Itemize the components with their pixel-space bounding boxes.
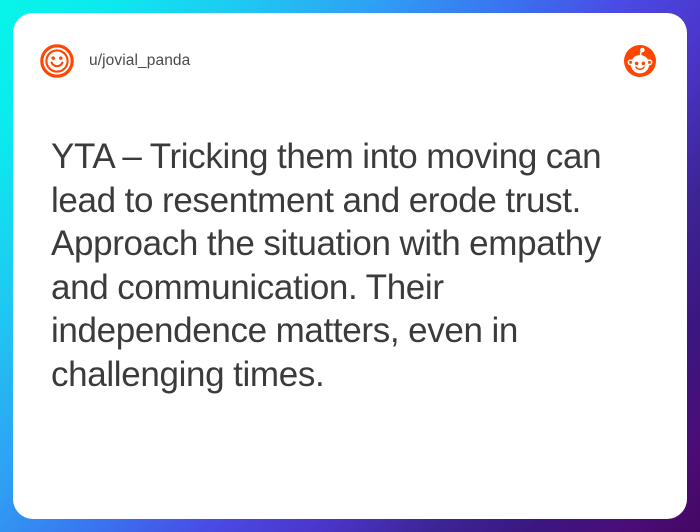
smiley-face-icon [39, 43, 75, 79]
quote-card: u/jovial_panda YTA – Tricking them into … [13, 13, 687, 519]
card-header: u/jovial_panda [39, 39, 661, 83]
quote-text: YTA – Tricking them into moving can lead… [51, 135, 621, 396]
username-label: u/jovial_panda [89, 52, 190, 70]
reddit-snoo-logo [623, 44, 657, 78]
gradient-background: u/jovial_panda YTA – Tricking them into … [0, 0, 700, 532]
quote-body: YTA – Tricking them into moving can lead… [39, 135, 661, 396]
